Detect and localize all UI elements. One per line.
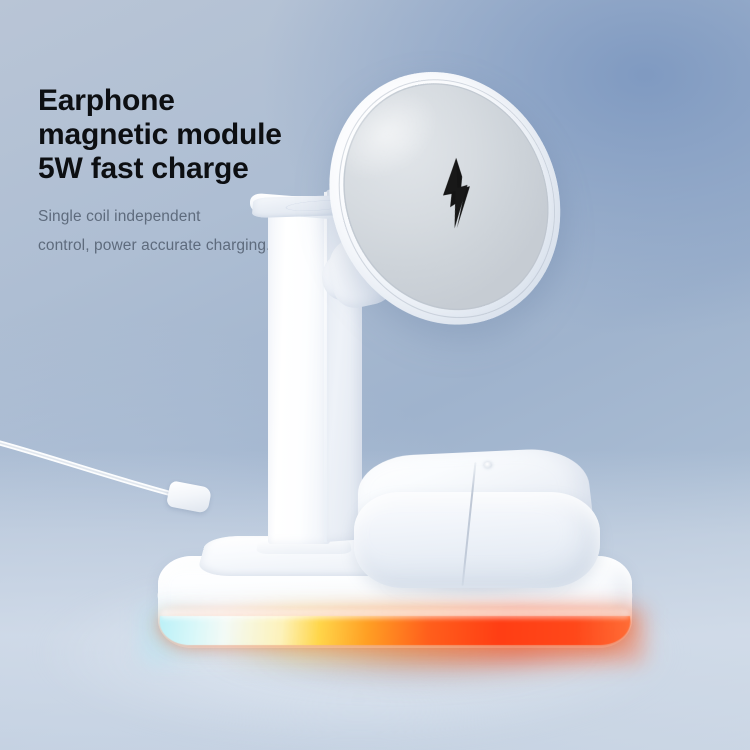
- earbuds-charging-case: [352, 440, 600, 592]
- case-body: [354, 492, 600, 588]
- column-edge-highlight: [324, 192, 327, 542]
- rgb-ambient-light-strip: [158, 616, 632, 645]
- product-photo: [0, 0, 750, 750]
- case-status-led: [484, 462, 492, 468]
- product-promo-image: Earphone magnetic module 5W fast charge …: [0, 0, 750, 750]
- lightning-bolt-icon: [434, 158, 478, 229]
- column-front-face: [268, 196, 330, 544]
